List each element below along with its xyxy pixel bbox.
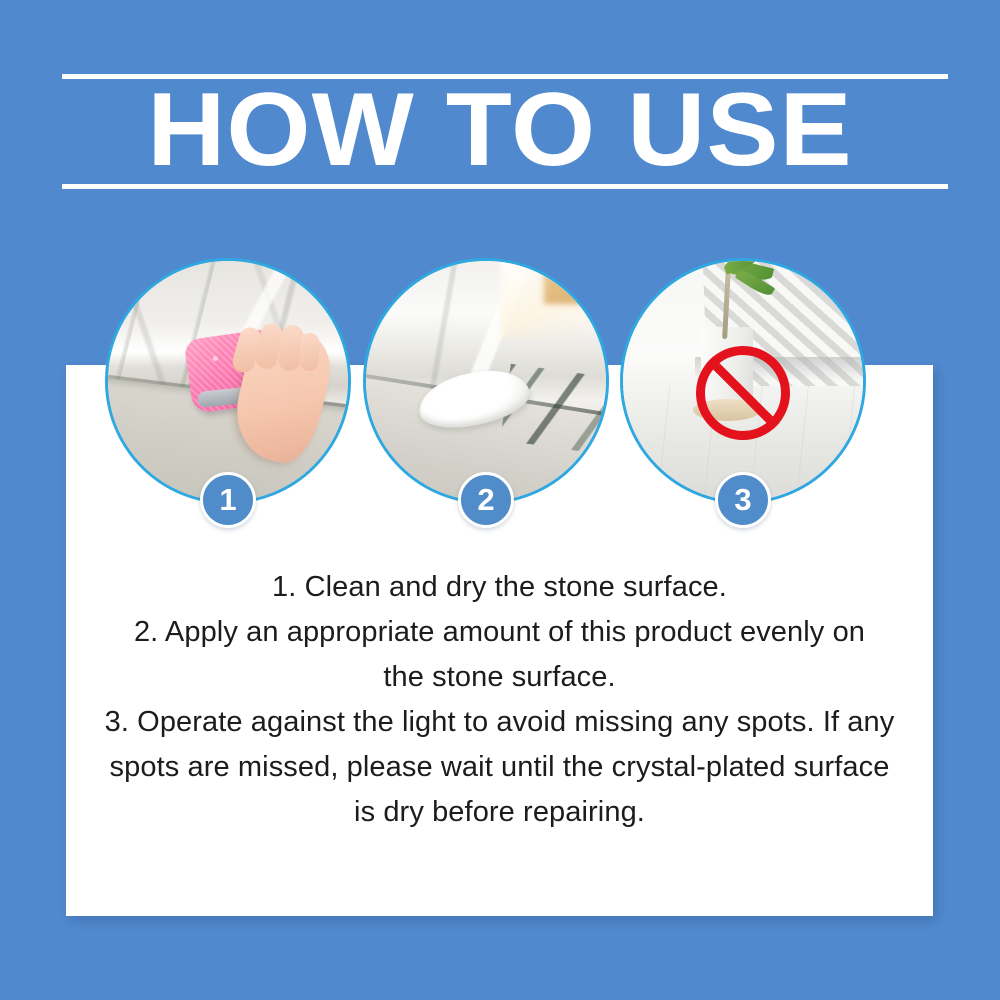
title-rule-bottom bbox=[62, 184, 948, 189]
instruction-line-1: 1. Clean and dry the stone surface. bbox=[66, 565, 933, 610]
product-on-marble-image bbox=[366, 261, 606, 501]
prohibition-icon bbox=[696, 346, 790, 440]
instruction-line-3: the stone surface. bbox=[66, 655, 933, 700]
prohibition-bar bbox=[707, 357, 780, 430]
bright-floor-image bbox=[623, 261, 863, 501]
step-3: 3 bbox=[620, 258, 866, 504]
finger bbox=[299, 333, 320, 372]
step-2: 2 bbox=[363, 258, 609, 504]
step-2-badge: 2 bbox=[458, 472, 514, 528]
instruction-line-6: is dry before repairing. bbox=[66, 790, 933, 835]
instruction-line-4: 3. Operate against the light to avoid mi… bbox=[66, 700, 933, 745]
instruction-line-2: 2. Apply an appropriate amount of this p… bbox=[66, 610, 933, 655]
page-title: HOW TO USE bbox=[0, 78, 1000, 182]
step-1: 1 bbox=[105, 258, 351, 504]
step-2-photo bbox=[363, 258, 609, 504]
step-1-badge: 1 bbox=[200, 472, 256, 528]
window-warm-light bbox=[544, 266, 582, 304]
instruction-line-5: spots are missed, please wait until the … bbox=[66, 745, 933, 790]
step-3-photo bbox=[620, 258, 866, 504]
hand-wiping-marble-image bbox=[108, 261, 348, 501]
step-3-badge: 3 bbox=[715, 472, 771, 528]
header: HOW TO USE bbox=[0, 0, 1000, 200]
instructions-block: 1. Clean and dry the stone surface. 2. A… bbox=[66, 565, 933, 835]
step-1-photo bbox=[105, 258, 351, 504]
